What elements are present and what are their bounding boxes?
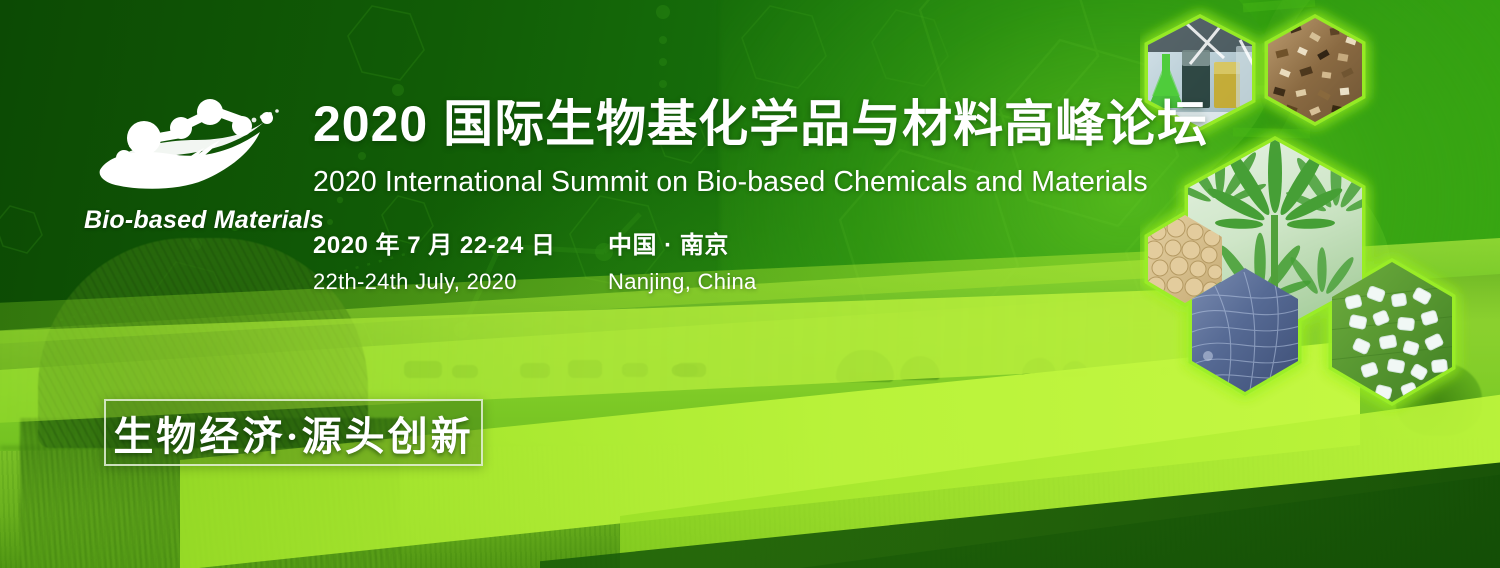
logo: Bio-based Materials: [84, 92, 294, 252]
event-date-chinese: 2020 年 7 月 22-24 日: [313, 225, 608, 260]
event-location: 中国 · 南京 Nanjing, China: [608, 225, 757, 295]
leaf-molecule-icon: [84, 92, 284, 202]
biomass-granules-photo: [1260, 10, 1372, 130]
event-location-chinese: 中国 · 南京: [608, 225, 757, 260]
headline-block: 2020 国际生物基化学品与材料高峰论坛 2020 International …: [313, 96, 1208, 295]
event-meta: 2020 年 7 月 22-24 日 22th-24th July, 2020 …: [313, 225, 1208, 295]
slogan-text: 生物经济·源头创新: [113, 404, 473, 462]
conference-banner: Bio-based Materials 2020 国际生物基化学品与材料高峰论坛…: [0, 0, 1500, 568]
event-date: 2020 年 7 月 22-24 日 22th-24th July, 2020: [313, 225, 608, 295]
event-date-english: 22th-24th July, 2020: [313, 269, 608, 295]
title-english: 2020 International Summit on Bio-based C…: [313, 166, 1208, 199]
title-chinese: 2020 国际生物基化学品与材料高峰论坛: [313, 96, 1208, 152]
event-location-english: Nanjing, China: [608, 269, 757, 295]
slogan-box: 生物经济·源头创新: [104, 399, 483, 466]
logo-text: Bio-based Materials: [84, 206, 294, 235]
